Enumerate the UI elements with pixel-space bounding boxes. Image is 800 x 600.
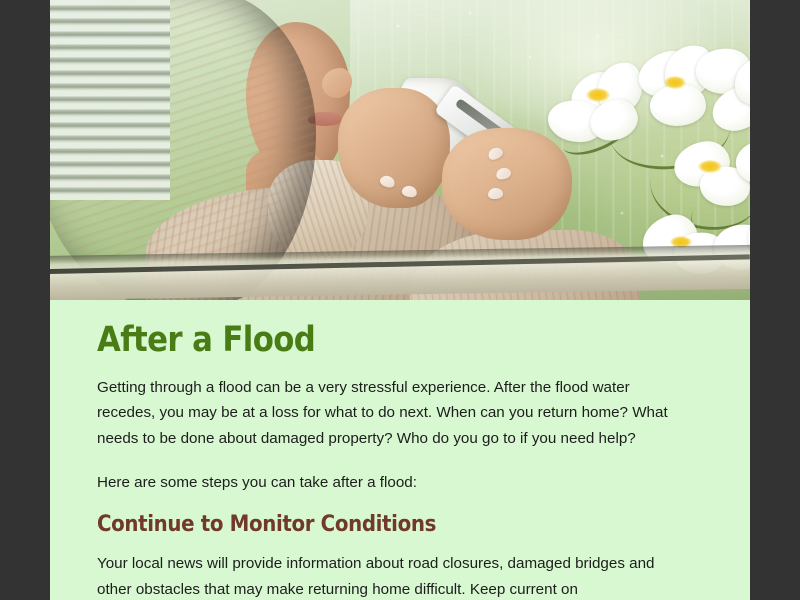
hand-holding-phone xyxy=(442,128,572,240)
hero-image xyxy=(50,0,750,300)
article-paragraph-1: Getting through a flood can be a very st… xyxy=(97,375,677,452)
article-body: After a Flood Getting through a flood ca… xyxy=(50,300,750,600)
section-heading-monitor-conditions: Continue to Monitor Conditions xyxy=(97,513,642,537)
article-paragraph-2: Here are some steps you can take after a… xyxy=(97,470,677,496)
window-blinds xyxy=(50,0,170,200)
hand-holding-mug xyxy=(338,88,450,208)
article-paragraph-3: Your local news will provide information… xyxy=(97,551,677,600)
page-gutter: After a Flood Getting through a flood ca… xyxy=(0,0,800,600)
content-column: After a Flood Getting through a flood ca… xyxy=(50,0,750,600)
page-title: After a Flood xyxy=(97,322,629,359)
